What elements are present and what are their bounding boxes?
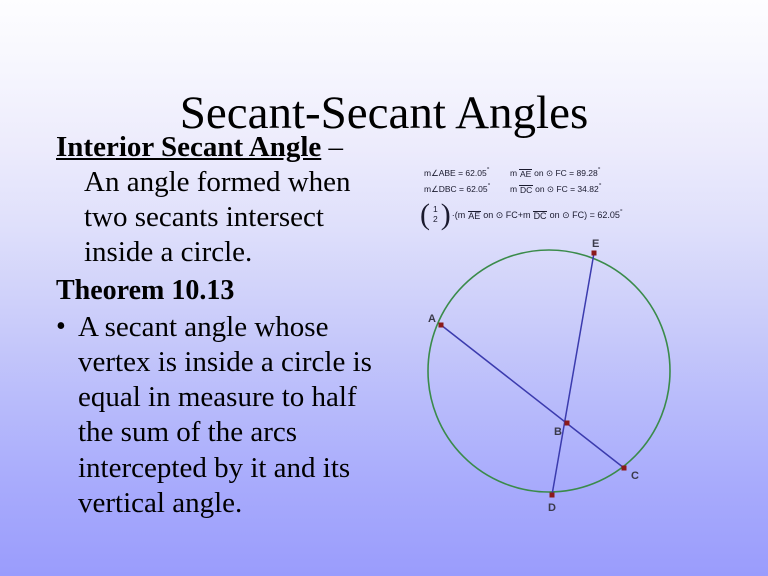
slide: Secant-Secant Angles Interior Secant Ang… — [0, 0, 768, 576]
definition-paragraph: Interior Secant Angle – An angle formed … — [56, 130, 396, 270]
left-paren: ( — [420, 203, 430, 227]
definition-text: An angle formed when two secants interse… — [56, 165, 396, 270]
arc-notation-dc-formula: DC — [533, 211, 547, 222]
formula-open: ·(m — [452, 210, 468, 220]
arc-notation-ae-formula: AE — [468, 211, 481, 222]
measure-arc-ae-middle: on ⊙ FC = — [532, 168, 577, 178]
formula-value: 62.05 — [597, 210, 620, 220]
labeled-points: ABCDE — [428, 238, 639, 514]
right-paren: ) — [441, 203, 451, 227]
degree-symbol: ° — [620, 209, 623, 216]
arc-notation-dc: DC — [519, 185, 532, 195]
degree-symbol: ° — [488, 183, 491, 190]
formula-close: ) = — [584, 210, 597, 220]
theorem-heading: Theorem 10.13 — [56, 274, 396, 308]
measure-arc-dc: m DC on ⊙ FC = 34.82° — [510, 182, 660, 196]
geometry-sketch: ABCDE — [400, 235, 690, 525]
measure-angle-abe-label: m∠ABE = — [424, 168, 465, 178]
one-half-fraction: 1 2 — [430, 205, 441, 225]
secant-AC — [441, 325, 624, 468]
formula-mid1: on ⊙ FC+m — [481, 210, 533, 220]
measure-arc-dc-middle: on ⊙ FC = — [533, 184, 578, 194]
measure-angle-dbc: m∠DBC = 62.05° — [424, 182, 510, 196]
measure-angle-dbc-value: 62.05 — [466, 184, 487, 194]
secant-ED — [552, 253, 594, 495]
measure-arc-ae: m AE on ⊙ FC = 89.28° — [510, 166, 660, 180]
formula-body: ·(m AE on ⊙ FC+m DC on ⊙ FC) = 62.05° — [452, 209, 623, 221]
measurement-panel: m∠ABE = 62.05° m∠DBC = 62.05° m AE on ⊙ … — [424, 166, 664, 198]
point-label-D: D — [548, 502, 556, 514]
circle-shape — [428, 250, 670, 492]
point-marker-E — [592, 251, 597, 256]
measure-angle-abe: m∠ABE = 62.05° — [424, 166, 510, 180]
point-marker-A — [439, 323, 444, 328]
point-label-A: A — [428, 313, 436, 325]
circle-diagram: ABCDE — [400, 235, 690, 525]
arc-notation-ae: AE — [519, 169, 531, 179]
fraction-denominator: 2 — [433, 215, 438, 225]
degree-symbol: ° — [598, 167, 601, 174]
point-marker-D — [550, 493, 555, 498]
point-marker-C — [622, 466, 627, 471]
degree-symbol: ° — [487, 167, 490, 174]
formula-expression: ( 1 2 ) ·(m AE on ⊙ FC+m DC on ⊙ FC) = 6… — [420, 203, 623, 227]
measure-angle-abe-value: 62.05 — [465, 168, 486, 178]
degree-symbol: ° — [599, 183, 602, 190]
definition-term: Interior Secant Angle — [56, 131, 321, 163]
measure-arc-ae-value: 89.28 — [576, 168, 597, 178]
secant-lines — [441, 253, 624, 495]
bullet-text: A secant angle whose vertex is inside a … — [78, 310, 396, 520]
point-marker-B — [565, 421, 570, 426]
bullet-marker-icon: • — [56, 310, 78, 344]
slide-body: Interior Secant Angle – An angle formed … — [56, 130, 396, 521]
measure-arc-dc-prefix: m — [510, 184, 519, 194]
formula-mid2: on ⊙ FC — [547, 210, 584, 220]
point-label-E: E — [592, 238, 599, 250]
measure-arc-ae-prefix: m — [510, 168, 519, 178]
bullet-list-item: • A secant angle whose vertex is inside … — [56, 310, 396, 520]
point-label-B: B — [554, 426, 562, 438]
measure-angle-dbc-label: m∠DBC = — [424, 184, 466, 194]
point-label-C: C — [631, 470, 639, 482]
measure-arc-dc-value: 34.82 — [577, 184, 598, 194]
definition-dash: – — [321, 131, 343, 163]
